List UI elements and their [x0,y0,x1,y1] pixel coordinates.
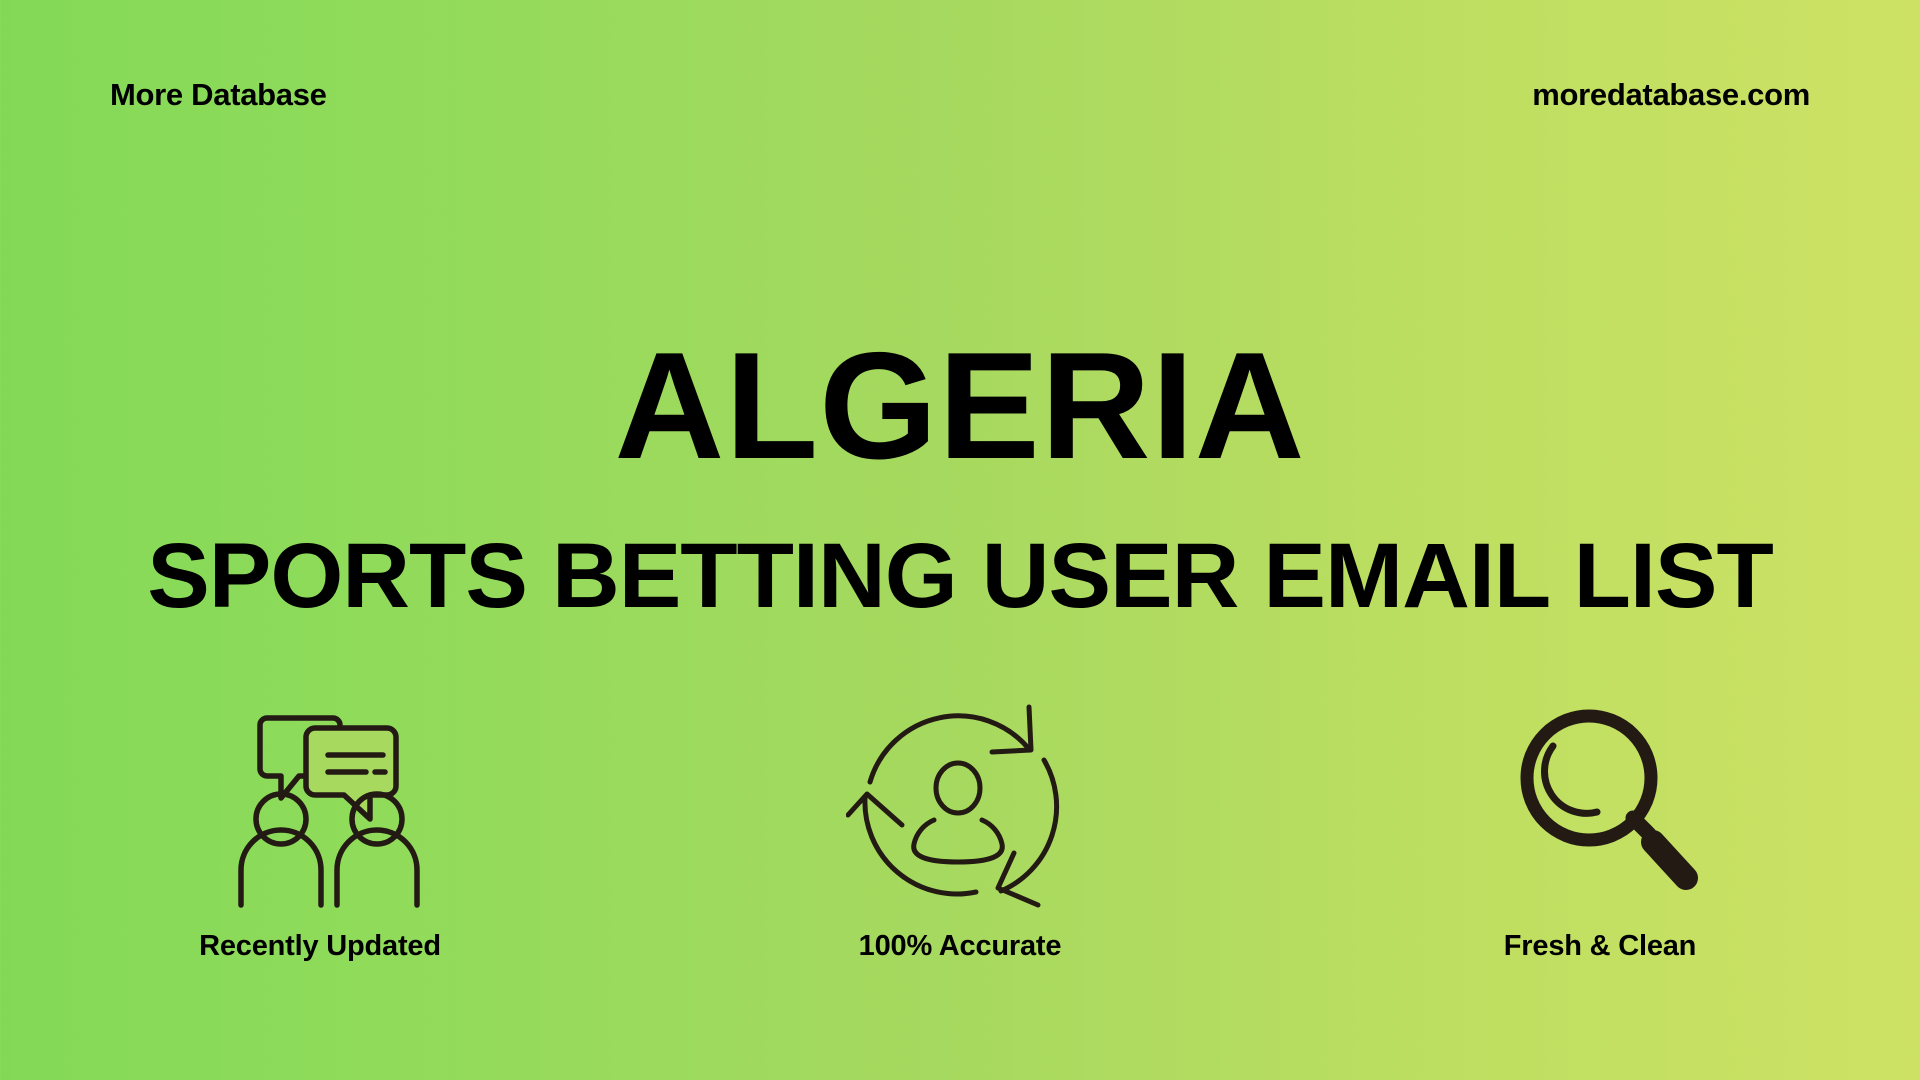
user-sync-arrows-icon [846,690,1071,910]
feature-label: Recently Updated [199,930,441,963]
hero-section: ALGERIA SPORTS BETTING USER EMAIL LIST [0,330,1920,622]
feature-label: 100% Accurate [859,930,1062,963]
page-subtitle: SPORTS BETTING USER EMAIL LIST [0,530,1920,622]
two-people-chat-icon [229,690,429,910]
feature-item-recently-updated: Recently Updated [0,690,640,963]
site-url[interactable]: moredatabase.com [1532,77,1810,113]
feature-item-fresh-clean: Fresh & Clean [1280,690,1920,963]
brand-logo[interactable]: More Database [110,77,327,113]
page-header: More Database moredatabase.com [0,0,1920,190]
feature-label: Fresh & Clean [1504,930,1696,963]
page-title: ALGERIA [0,330,1920,482]
magnifying-glass-icon [1511,690,1701,910]
feature-item-100-accurate: 100% Accurate [640,690,1280,963]
feature-list: Recently Updated 100% Accurate [0,690,1920,963]
